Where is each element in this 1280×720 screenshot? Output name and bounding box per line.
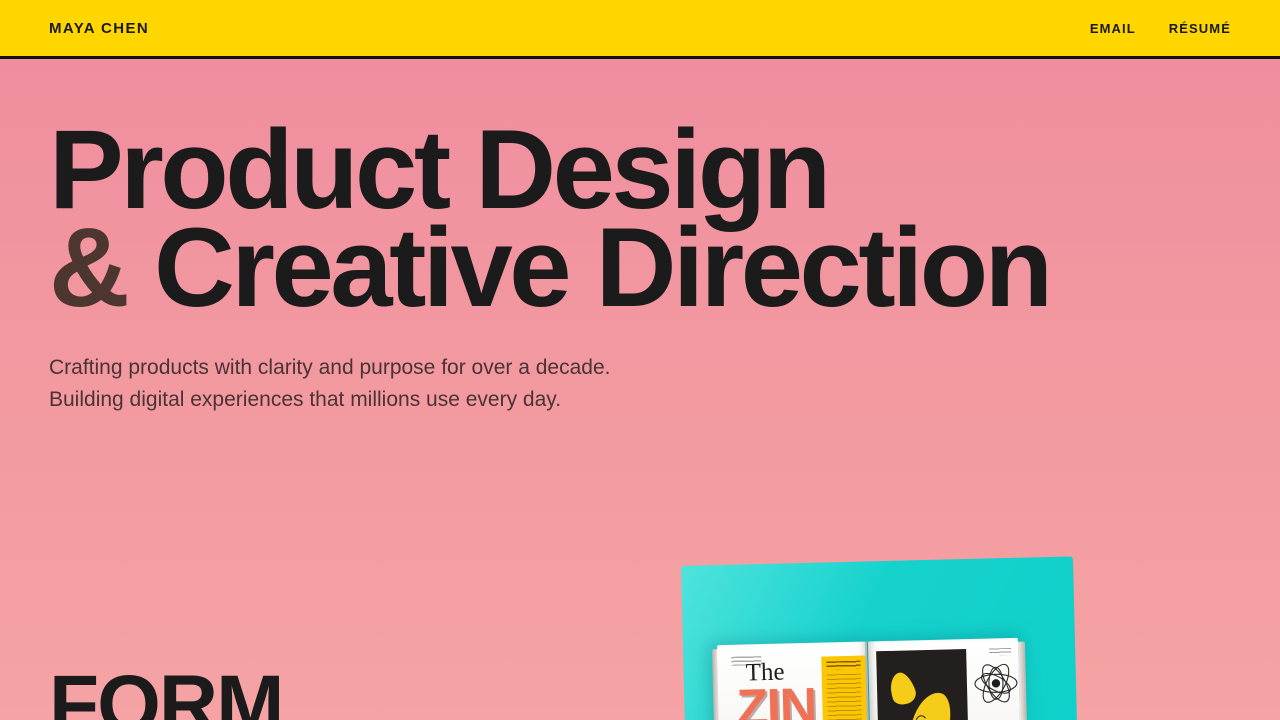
magazine-left-page: The ZIN — [717, 641, 870, 720]
nav-link-email[interactable]: EMAIL — [1090, 21, 1136, 36]
headline-ampersand: & — [49, 205, 126, 330]
magazine-title-word: ZIN — [736, 681, 817, 720]
page-root: MAYA CHEN EMAIL RÉSUMÉ Product Design & … — [0, 0, 1280, 720]
callout-heading-lines — [826, 661, 860, 670]
showcase-card[interactable]: The ZIN — [681, 556, 1078, 720]
subtitle-line-2: Building digital experiences that millio… — [49, 388, 561, 411]
section-title-form: FORM — [49, 664, 282, 720]
nav-links-group: EMAIL RÉSUMÉ — [1090, 21, 1231, 36]
hero-headline: Product Design & Creative Direction — [49, 121, 1050, 317]
top-navigation-bar: MAYA CHEN EMAIL RÉSUMÉ — [0, 0, 1280, 59]
subtitle-line-1: Crafting products with clarity and purpo… — [49, 356, 610, 379]
magazine-black-panel — [876, 649, 969, 720]
headline-line-2: Creative Direction — [154, 205, 1050, 330]
callout-body-lines — [827, 674, 863, 720]
right-page-meta-lines — [989, 648, 1011, 656]
nav-link-resume[interactable]: RÉSUMÉ — [1169, 21, 1231, 36]
hero-subtitle: Crafting products with clarity and purpo… — [49, 352, 610, 416]
atom-diagram-icon — [972, 660, 1019, 707]
open-magazine: The ZIN — [717, 634, 1022, 720]
magazine-yellow-callout — [821, 656, 868, 720]
pear-shape-small-icon — [885, 670, 918, 708]
magazine-right-page — [868, 638, 1021, 720]
brand-logo[interactable]: MAYA CHEN — [49, 20, 149, 37]
